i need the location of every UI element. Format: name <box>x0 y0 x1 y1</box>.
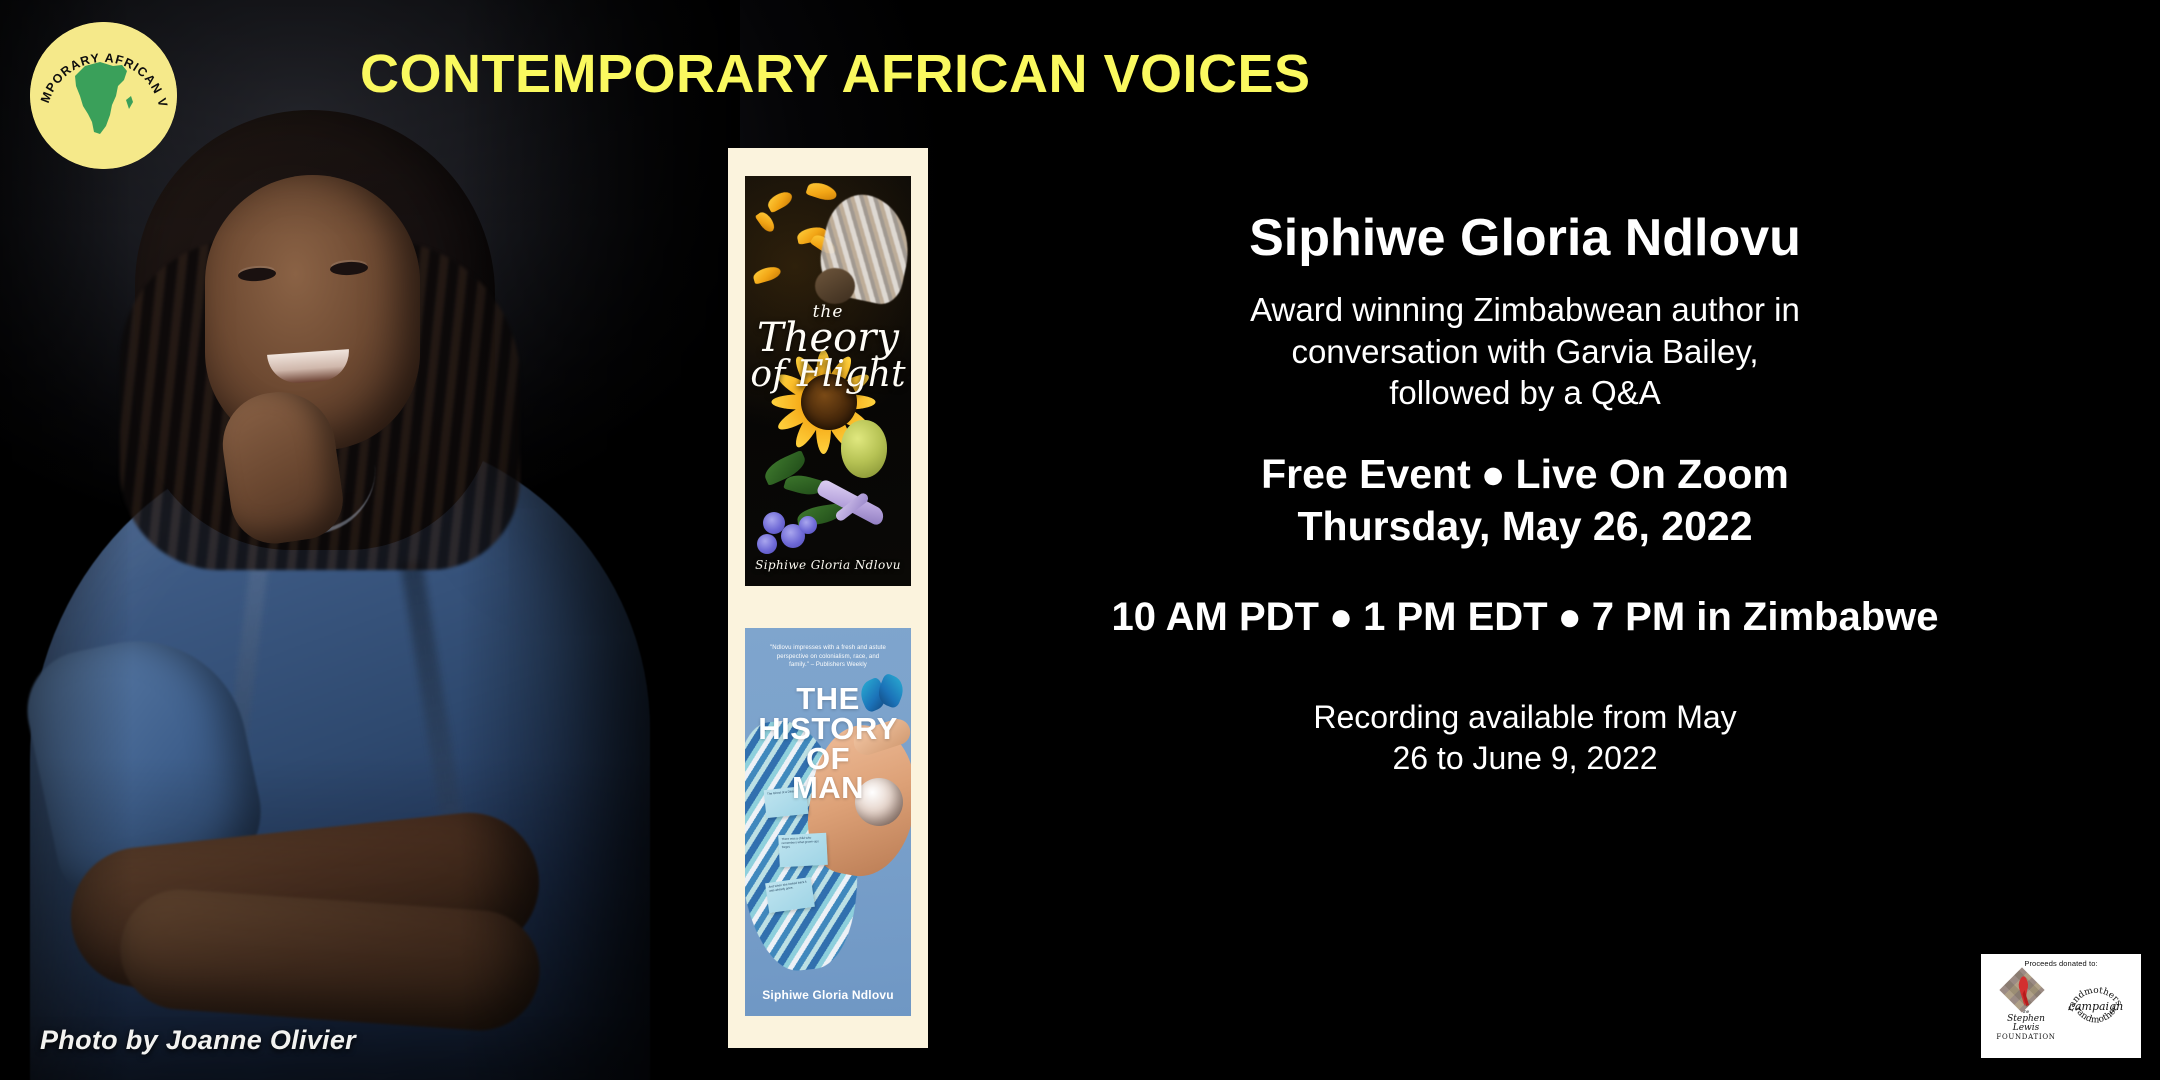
ribbon-quilt-mark <box>1999 971 2053 1011</box>
book-review-quote: "Ndlovu impresses with a fresh and astut… <box>767 644 889 670</box>
book-author: Siphiwe Gloria Ndlovu <box>745 558 911 572</box>
event-poster: CONTEMPORARY AFRICAN VOICES CONTEMPORARY… <box>0 0 2160 1080</box>
bullet-separator-icon: ● <box>1548 595 1592 639</box>
blue-flower <box>757 534 777 554</box>
event-times: 10 AM PDT●1 PM EDT●7 PM in Zimbabwe <box>1020 593 2030 641</box>
description-line-3: followed by a Q&A <box>1020 372 2030 414</box>
sponsors-card: Proceeds donated to: the Stephen Lewis F… <box>1981 954 2141 1058</box>
book-cover-history-of-man: "Ndlovu impresses with a fresh and astut… <box>745 628 911 1016</box>
description-line-1: Award winning Zimbabwean author in <box>1020 289 2030 331</box>
book-author: Siphiwe Gloria Ndlovu <box>745 988 911 1002</box>
event-date: Thursday, May 26, 2022 <box>1020 500 2030 552</box>
book-covers-panel: the Theory of Flight Siphiwe Gloria Ndlo… <box>728 148 928 1048</box>
blue-flower <box>799 516 817 534</box>
event-details: Siphiwe Gloria Ndlovu Award winning Zimb… <box>1020 210 2030 780</box>
live-on-zoom-label: Live On Zoom <box>1516 451 1789 497</box>
speaker-name: Siphiwe Gloria Ndlovu <box>1020 210 2030 267</box>
paper-note: And when she looked back it was already … <box>765 877 815 913</box>
description-line-2: conversation with Garvia Bailey, <box>1020 331 2030 373</box>
svg-text:campaign: campaign <box>2069 1000 2123 1013</box>
recording-availability: Recording available from May 26 to June … <box>1020 697 2030 780</box>
page-title: CONTEMPORARY AFRICAN VOICES <box>360 46 1220 103</box>
contemporary-african-voices-logo: CONTEMPORARY AFRICAN VOICES <box>30 22 177 169</box>
event-format-block: Free Event●Live On Zoom Thursday, May 26… <box>1020 448 2030 553</box>
aids-ribbon-icon <box>2016 973 2033 1007</box>
slf-name-label: Stephen Lewis <box>1995 1015 2057 1033</box>
recording-line-1: Recording available from May <box>1020 697 2030 739</box>
free-event-label: Free Event <box>1261 451 1471 497</box>
paper-note: The Ghost of a Dead <box>764 786 809 818</box>
sponsor-logos: the Stephen Lewis FOUNDATION grandmother… <box>1995 971 2127 1042</box>
grandmothers-campaign-logo: grandmothers to grandmothers campaign <box>2065 976 2127 1036</box>
bird-body <box>815 268 855 304</box>
time-pdt: 10 AM PDT <box>1112 595 1319 639</box>
bullet-separator-icon: ● <box>1319 595 1363 639</box>
bullet-separator-icon: ● <box>1471 451 1516 497</box>
pear <box>841 420 887 478</box>
book-cover-theory-of-flight: the Theory of Flight Siphiwe Gloria Ndlo… <box>745 176 911 586</box>
recording-line-2: 26 to June 9, 2022 <box>1020 738 2030 780</box>
speaker-description: Award winning Zimbabwean author in conve… <box>1020 289 2030 414</box>
event-format-line: Free Event●Live On Zoom <box>1020 448 2030 500</box>
photo-credit: Photo by Joanne Olivier <box>40 1025 356 1056</box>
slf-foundation-label: FOUNDATION <box>1995 1033 2057 1042</box>
snow-globe <box>855 778 903 826</box>
stephen-lewis-foundation-logo: the Stephen Lewis FOUNDATION <box>1995 971 2057 1042</box>
proceeds-label: Proceeds donated to: <box>2024 959 2097 968</box>
time-edt: 1 PM EDT <box>1363 595 1547 639</box>
time-zimbabwe: 7 PM in Zimbabwe <box>1592 595 1939 639</box>
paper-note: There was a child who remembers what gro… <box>778 833 828 867</box>
